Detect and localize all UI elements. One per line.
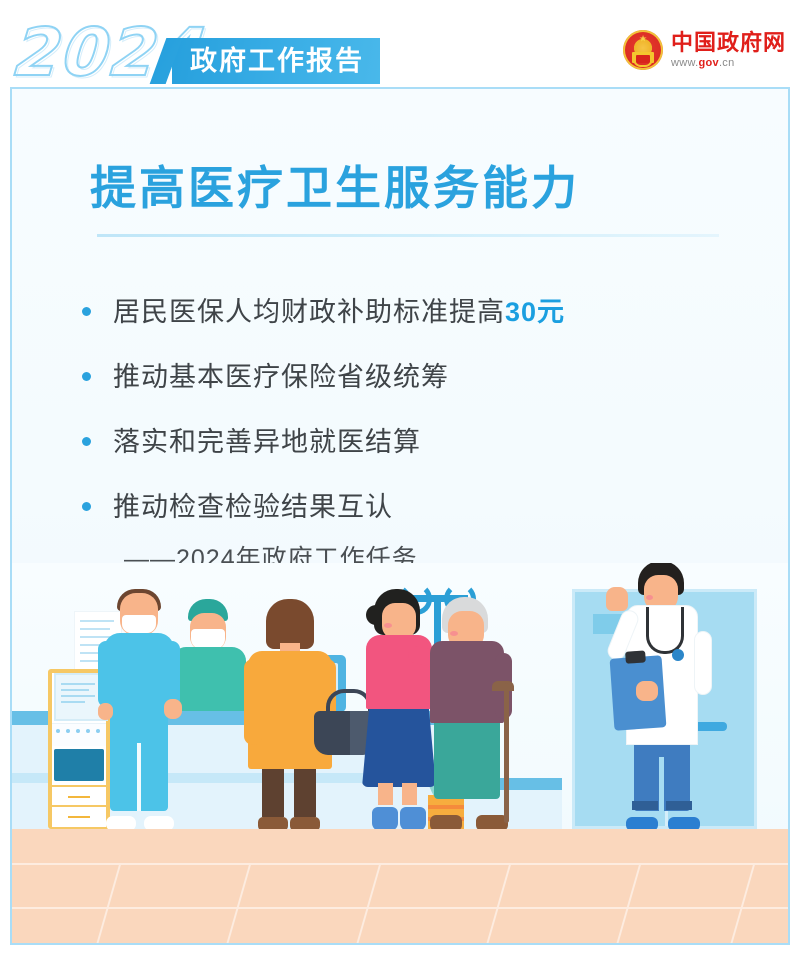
doctor-cheek [646, 595, 653, 600]
list-item-text-main: 推动检查检验结果互认 [113, 492, 393, 522]
face-mask-icon [191, 629, 225, 649]
list-item: 居民医保人均财政补助标准提高30元 [82, 279, 732, 344]
list-item-text: 推动检查检验结果互认 [113, 491, 393, 523]
doctor-waving-hand [606, 587, 628, 611]
face-mask-icon [122, 615, 156, 633]
bullet-dot-icon [82, 502, 91, 511]
woman-cheek [384, 623, 392, 628]
nurse-leg-gap [137, 743, 141, 811]
doctor-cuff-left [632, 801, 658, 810]
report-label-tab: 政府工作报告 [172, 38, 380, 84]
brand-text-block: 中国政府网 www.gov.cn [671, 31, 786, 70]
report-label-text: 政府工作报告 [190, 48, 364, 75]
stethoscope-icon [646, 607, 684, 654]
list-item-text-main: 落实和完善异地就医结算 [113, 427, 421, 457]
brand-url-suffix: .cn [719, 57, 735, 69]
patient-sleeve-left [244, 659, 262, 745]
emblem-gear-icon [633, 59, 653, 67]
page-title: 提高医疗卫生服务能力 [90, 162, 580, 214]
elderly-cheek [450, 631, 458, 636]
emblem-star-icon: ★ [639, 34, 647, 43]
list-item-text: 落实和完善异地就医结算 [113, 426, 421, 458]
bullet-dot-icon [82, 372, 91, 381]
content-frame: 提高医疗卫生服务能力 居民医保人均财政补助标准提高30元 推动基本医疗保险省级统… [10, 87, 790, 945]
list-item-text: 居民医保人均财政补助标准提高30元 [113, 296, 565, 328]
woman-sock-left [372, 807, 398, 831]
surgeon-body [172, 647, 246, 711]
list-item-text: 推动基本医疗保险省级统筹 [113, 361, 449, 393]
surgeon-green-scrubs [172, 601, 246, 711]
doctor-leg-gap [659, 757, 664, 811]
hospital-lobby-illustration [12, 563, 788, 943]
woman-leg-left [378, 783, 393, 805]
floor [12, 829, 788, 943]
bullet-dot-icon [82, 437, 91, 446]
nurse-blue-scrubs [96, 593, 182, 829]
bullet-dot-icon [82, 307, 91, 316]
patient-leg-right [294, 765, 316, 817]
list-item: 推动检查检验结果互认 [82, 474, 732, 539]
list-item: 落实和完善异地就医结算 [82, 409, 732, 474]
woman-sweater [366, 635, 432, 709]
list-item-text-main: 居民医保人均财政补助标准提高 [113, 297, 505, 327]
nurse-arm-left [98, 641, 114, 707]
doctor-arm-lowered [694, 631, 712, 695]
doctor-cuff-right [666, 801, 692, 810]
patient-hair [266, 599, 314, 649]
national-emblem-icon: ★ [623, 30, 663, 70]
brand-url-main: gov [698, 57, 718, 69]
patient-orange-coat [244, 599, 336, 829]
nurse-arm-right [164, 641, 180, 707]
list-item-text-main: 推动基本医疗保险省级统筹 [113, 362, 449, 392]
patient-leg-left [262, 765, 284, 817]
woman-leg-right [402, 783, 417, 805]
poster-page: 2024 2024 政府工作报告 ★ 中国政府网 www.gov.cn 提高医疗… [0, 0, 800, 955]
stethoscope-bell-icon [672, 649, 684, 661]
cart-indicator-lights [56, 729, 100, 733]
doctor-hand-holding-clipboard [636, 681, 658, 701]
cane-handle [492, 681, 514, 691]
brand-name: 中国政府网 [671, 31, 786, 55]
woman-skirt [362, 705, 436, 787]
bullet-list: 居民医保人均财政补助标准提高30元 推动基本医疗保险省级统筹 落实和完善异地就医… [82, 279, 732, 539]
clipboard-clasp-icon [625, 650, 646, 663]
title-divider [97, 234, 719, 237]
woman-sock-right [400, 807, 426, 831]
walking-cane [504, 683, 509, 823]
list-item-highlight: 30元 [505, 297, 565, 327]
doctor-white-coat-waving [612, 563, 712, 829]
page-header: 2024 2024 政府工作报告 ★ 中国政府网 www.gov.cn [0, 0, 800, 95]
nurse-hand-left [98, 703, 113, 720]
list-item: 推动基本医疗保险省级统筹 [82, 344, 732, 409]
elderly-person-with-cane [428, 597, 510, 829]
brand-logo[interactable]: ★ 中国政府网 www.gov.cn [623, 30, 786, 70]
brand-url: www.gov.cn [671, 56, 786, 70]
elderly-pants [434, 717, 500, 799]
brand-url-prefix: www. [671, 57, 698, 69]
woman-face [382, 603, 416, 639]
nurse-hand-right [164, 699, 182, 719]
